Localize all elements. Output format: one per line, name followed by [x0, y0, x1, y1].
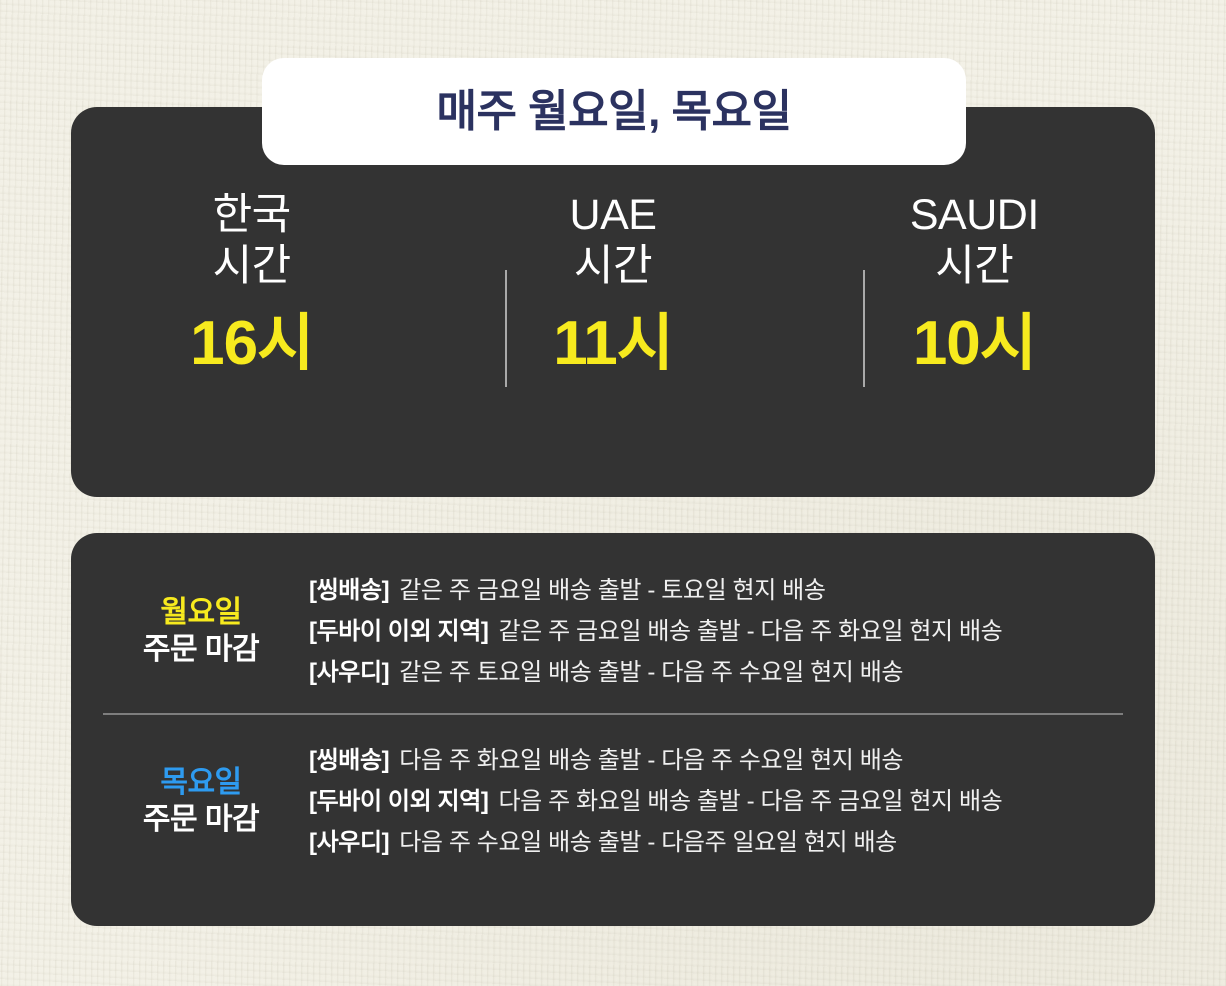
schedule-line-text: 같은 주 금요일 배송 출발 - 토요일 현지 배송: [399, 577, 825, 604]
schedule-line-text: 다음 주 화요일 배송 출발 - 다음 주 금요일 현지 배송: [498, 788, 1002, 815]
schedule-group-monday: 월요일 주문 마감 [씽배송]같은 주 금요일 배송 출발 - 토요일 현지 배…: [71, 550, 1155, 713]
timezone-row: 한국 시간 16시 UAE 시간 11시 SAUDI 시간 10시: [71, 190, 1155, 440]
schedule-line-text: 다음 주 화요일 배송 출발 - 다음 주 수요일 현지 배송: [399, 747, 903, 774]
schedule-line: [두바이 이외 지역]다음 주 화요일 배송 출발 - 다음 주 금요일 현지 …: [309, 781, 1155, 822]
timezone-column-korea: 한국 시간 16시: [71, 190, 432, 377]
schedule-line-tag: [사우디]: [309, 829, 389, 856]
schedule-line-tag: [두바이 이외 지역]: [309, 788, 488, 815]
day-name-monday: 월요일: [101, 595, 301, 632]
timezone-label-saudi: 시간: [935, 242, 1013, 290]
schedule-line-text: 같은 주 금요일 배송 출발 - 다음 주 화요일 현지 배송: [498, 618, 1002, 645]
schedule-line-tag: [씽배송]: [309, 577, 389, 604]
schedule-line: [두바이 이외 지역]같은 주 금요일 배송 출발 - 다음 주 화요일 현지 …: [309, 611, 1155, 652]
timezone-divider-1: [505, 270, 507, 387]
schedule-panel: 월요일 주문 마감 [씽배송]같은 주 금요일 배송 출발 - 토요일 현지 배…: [71, 533, 1155, 926]
schedule-line: [사우디]다음 주 수요일 배송 출발 - 다음주 일요일 현지 배송: [309, 822, 1155, 863]
timezone-region-saudi: SAUDI: [910, 191, 1039, 239]
schedule-lines-thursday: [씽배송]다음 주 화요일 배송 출발 - 다음 주 수요일 현지 배송 [두바…: [301, 740, 1155, 864]
timezone-column-uae: UAE 시간 11시: [432, 190, 793, 377]
schedule-line: [씽배송]다음 주 화요일 배송 출발 - 다음 주 수요일 현지 배송: [309, 740, 1155, 781]
day-label-monday: 월요일 주문 마감: [101, 595, 301, 668]
timezone-hour-uae: 11시: [553, 311, 673, 376]
schedule-line-tag: [두바이 이외 지역]: [309, 618, 488, 645]
timezone-name-uae: UAE 시간: [570, 190, 657, 291]
schedule-line-tag: [씽배송]: [309, 747, 389, 774]
schedule-line: [씽배송]같은 주 금요일 배송 출발 - 토요일 현지 배송: [309, 570, 1155, 611]
schedule-group-thursday: 목요일 주문 마감 [씽배송]다음 주 화요일 배송 출발 - 다음 주 수요일…: [71, 720, 1155, 883]
day-sub-monday: 주문 마감: [101, 632, 301, 669]
schedule-row-divider: [103, 713, 1123, 715]
timezone-label-korea: 시간: [213, 242, 291, 290]
schedule-lines-monday: [씽배송]같은 주 금요일 배송 출발 - 토요일 현지 배송 [두바이 이외 …: [301, 570, 1155, 694]
timezone-divider-2: [863, 270, 865, 387]
day-label-thursday: 목요일 주문 마감: [101, 765, 301, 838]
schedule-line-text: 같은 주 토요일 배송 출발 - 다음 주 수요일 현지 배송: [399, 659, 903, 686]
timezone-column-saudi: SAUDI 시간 10시: [794, 190, 1155, 377]
timezone-region-uae: UAE: [570, 191, 657, 239]
timezone-region-korea: 한국: [213, 191, 291, 239]
day-sub-thursday: 주문 마감: [101, 802, 301, 839]
timezone-hour-saudi: 10시: [913, 311, 1036, 376]
schedule-line-tag: [사우디]: [309, 659, 389, 686]
timezone-label-uae: 시간: [574, 242, 652, 290]
timezone-name-korea: 한국 시간: [213, 190, 291, 291]
title-pill: 매주 월요일, 목요일: [262, 58, 966, 165]
day-name-thursday: 목요일: [101, 765, 301, 802]
timezone-hour-korea: 16시: [190, 311, 313, 376]
schedule-line-text: 다음 주 수요일 배송 출발 - 다음주 일요일 현지 배송: [399, 829, 897, 856]
schedule-line: [사우디]같은 주 토요일 배송 출발 - 다음 주 수요일 현지 배송: [309, 652, 1155, 693]
timezone-name-saudi: SAUDI 시간: [910, 190, 1039, 291]
page-title: 매주 월요일, 목요일: [436, 90, 791, 134]
